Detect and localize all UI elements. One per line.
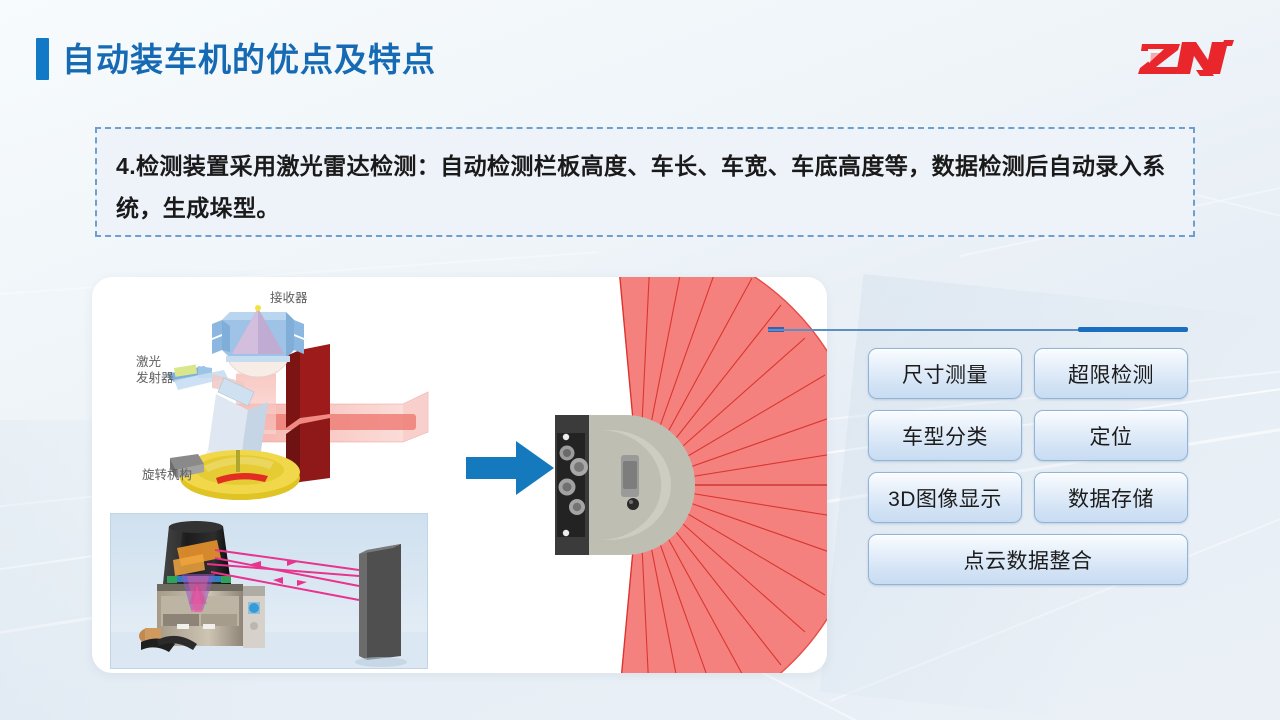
- slide-header: 自动装车机的优点及特点: [0, 0, 1280, 108]
- callout-text: 4.检测装置采用激光雷达检测：自动检测栏板高度、车长、车宽、车底高度等，数据检测…: [97, 129, 1193, 229]
- content-panel: 接收器 激光 发射器 旋转机构: [92, 277, 827, 673]
- title-accent-bar: [36, 38, 49, 80]
- feature-button-positioning[interactable]: 定位: [1034, 410, 1188, 461]
- feature-row: 车型分类 定位: [868, 410, 1188, 461]
- feature-button-3d-image-display[interactable]: 3D图像显示: [868, 472, 1022, 523]
- right-arrow-icon: [464, 437, 556, 499]
- callout-box: 4.检测装置采用激光雷达检测：自动检测栏板高度、车长、车宽、车底高度等，数据检测…: [95, 127, 1195, 237]
- connector-thick-line: [1078, 327, 1188, 332]
- feature-row: 尺寸测量 超限检测: [868, 348, 1188, 399]
- label-rotating-mechanism: 旋转机构: [142, 467, 192, 483]
- page-title: 自动装车机的优点及特点: [36, 38, 436, 80]
- connector-thin-line: [768, 329, 1090, 331]
- label-laser-emitter: 激光 发射器: [136, 354, 174, 386]
- feature-button-size-measurement[interactable]: 尺寸测量: [868, 348, 1022, 399]
- feature-button-point-cloud-integration[interactable]: 点云数据整合: [868, 534, 1188, 585]
- lidar-principle-diagram: 接收器 激光 发射器 旋转机构: [108, 282, 443, 507]
- lidar-cutaway-photo: [110, 513, 428, 669]
- feature-button-data-storage[interactable]: 数据存储: [1034, 472, 1188, 523]
- title-text: 自动装车机的优点及特点: [62, 43, 436, 76]
- callout-connector-line: [768, 327, 1188, 333]
- feature-row: 3D图像显示 数据存储: [868, 472, 1188, 523]
- label-laser-emitter-line1: 激光: [136, 355, 161, 369]
- feature-button-vehicle-classification[interactable]: 车型分类: [868, 410, 1022, 461]
- lidar-scanner-illustration: [547, 277, 827, 673]
- feature-row: 点云数据整合: [868, 534, 1188, 585]
- slide: 自动装车机的优点及特点 4.检测装置采用激光雷达检测：自动检测栏板高度、车长、车…: [0, 0, 1280, 720]
- label-laser-emitter-line2: 发射器: [136, 371, 174, 385]
- company-logo: [1134, 30, 1238, 80]
- label-receiver: 接收器: [270, 290, 308, 306]
- feature-button-grid: 尺寸测量 超限检测 车型分类 定位 3D图像显示 数据存储 点云数据整合: [868, 348, 1188, 596]
- feature-button-overlimit-detection[interactable]: 超限检测: [1034, 348, 1188, 399]
